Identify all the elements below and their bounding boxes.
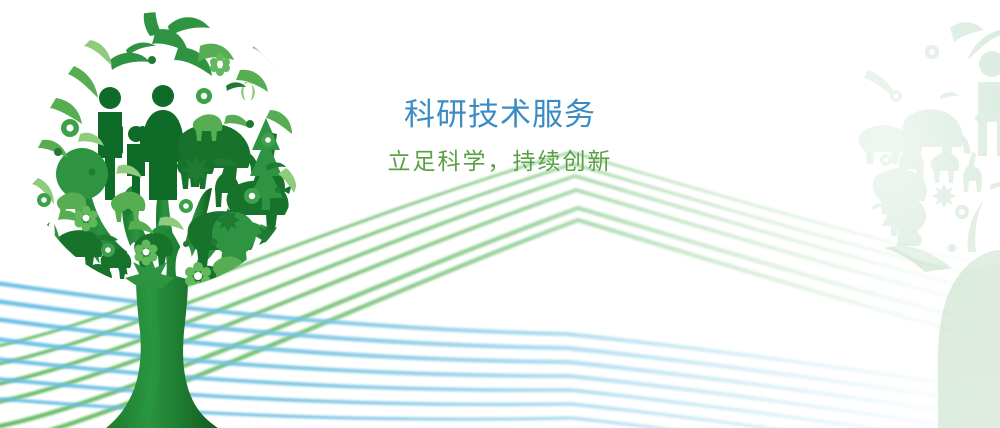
- tree-left-svg: [0, 0, 1000, 428]
- page-title: 科研技术服务: [330, 96, 670, 134]
- banner-text-block: 科研技术服务 立足科学，持续创新: [330, 96, 670, 176]
- bird-icon: [110, 53, 150, 70]
- hero-banner: 科研技术服务 立足科学，持续创新: [0, 0, 1000, 428]
- canopy-left: [32, 0, 297, 316]
- biodiversity-tree: [0, 0, 1000, 428]
- family-icon: [98, 85, 187, 200]
- page-subtitle: 立足科学，持续创新: [330, 146, 670, 176]
